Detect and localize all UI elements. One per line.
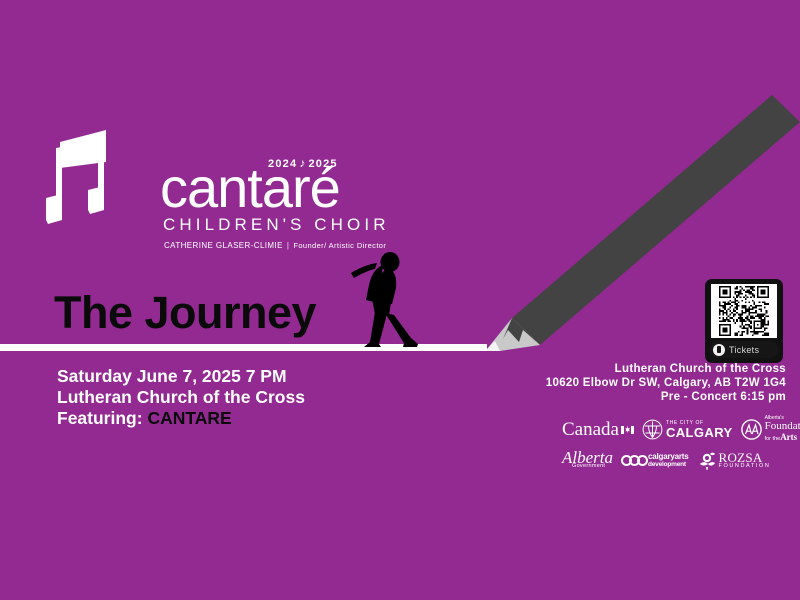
artistic-director-credit: CATHERINE GLASER-CLIMIE|Founder/ Artisti… [164, 241, 386, 251]
rozsa-mark-icon [697, 451, 717, 471]
director-separator: | [283, 241, 293, 250]
sponsor-cad-line1: calgaryarts [648, 453, 689, 462]
wordmark-text: cantaré [160, 160, 340, 216]
canada-flag-icon [621, 426, 634, 434]
venue-name: Lutheran Church of the Cross [486, 362, 786, 376]
sponsor-rozsa-foundation: ROZSA FOUNDATION [697, 451, 771, 471]
venue-info: Lutheran Church of the Cross 10620 Elbow… [486, 362, 786, 404]
featuring-ensemble: CANTARE [147, 408, 231, 428]
tickets-widget[interactable]: Tickets [705, 279, 783, 363]
sponsor-canada-label: Canada [562, 420, 619, 439]
sponsor-cad-line2: development [648, 461, 689, 468]
ticket-icon [713, 344, 725, 356]
sponsor-alberta-foundation-arts: Alberta's Foundation for theArts [741, 416, 800, 443]
featuring-label: Featuring: [57, 408, 143, 428]
sponsor-alberta-government: Alberta Government [562, 450, 613, 471]
sponsor-row-top: Canada THE CITY OF [562, 414, 790, 445]
concert-poster: 2024♪2025 cantaré CHILDREN'S CHOIR CATHE… [0, 0, 800, 600]
cad-rings-icon [621, 455, 645, 466]
director-role: Founder/ Artistic Director [293, 241, 386, 250]
sponsor-calgary-arts-development: calgaryarts development [621, 453, 689, 469]
sponsor-rozsa-line2: FOUNDATION [719, 464, 771, 470]
event-venue: Lutheran Church of the Cross [57, 387, 377, 408]
page-title: The Journey [54, 288, 316, 338]
sponsor-row-bottom: Alberta Government calgaryarts developme… [562, 445, 790, 476]
venue-address: 10620 Elbow Dr SW, Calgary, AB T2W 1G4 [486, 376, 786, 390]
qr-code-icon[interactable] [711, 284, 777, 338]
sponsor-afa-line3: for the [765, 436, 781, 442]
walking-person-silhouette-icon [345, 252, 425, 347]
event-datetime: Saturday June 7, 2025 7 PM [57, 366, 377, 387]
event-details: Saturday June 7, 2025 7 PM Lutheran Chur… [57, 366, 377, 429]
sponsor-canada: Canada [562, 420, 634, 439]
sponsor-calgary-line2: CALGARY [666, 426, 733, 439]
pre-concert-time: Pre - Concert 6:15 pm [486, 390, 786, 404]
tickets-button-label: Tickets [729, 345, 759, 355]
wordmark-subtitle: CHILDREN'S CHOIR [163, 216, 390, 233]
afa-monogram-icon [741, 419, 762, 440]
calgary-crest-icon [642, 419, 663, 440]
cantare-logo: 2024♪2025 cantaré CHILDREN'S CHOIR CATHE… [46, 126, 336, 244]
sponsor-alberta-sublabel: Government [572, 458, 605, 474]
sponsor-rozsa-line1: ROZSA [719, 451, 771, 465]
event-featuring: Featuring: CANTARE [57, 408, 377, 429]
sponsor-afa-line4: Arts [780, 432, 797, 442]
tickets-button[interactable]: Tickets [709, 341, 779, 358]
music-note-icon [46, 128, 118, 240]
sponsor-city-of-calgary: THE CITY OF CALGARY [642, 419, 733, 440]
sponsor-logos: Canada THE CITY OF [562, 414, 790, 476]
director-name: CATHERINE GLASER-CLIMIE [164, 241, 283, 250]
